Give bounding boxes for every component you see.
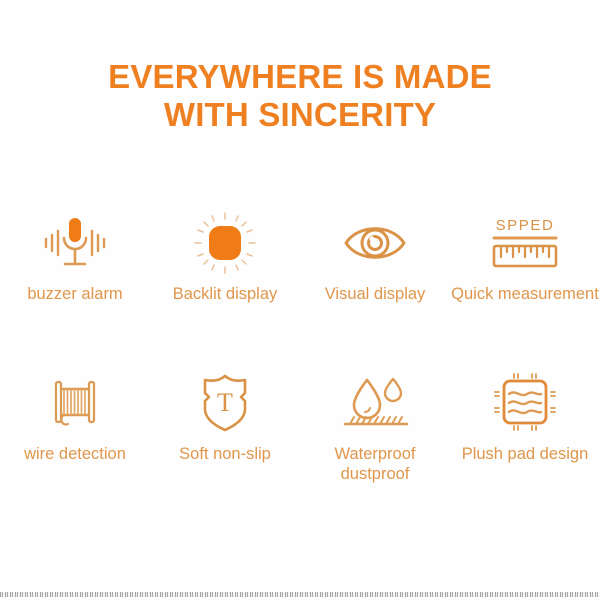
wire-spool-icon [44, 366, 106, 440]
feature-row-1: buzzer alarm [0, 206, 600, 304]
ruler-speed-icon: SPPED [486, 206, 564, 280]
feature-label: Backlit display [173, 284, 278, 304]
feature-cell-plush-pad-design: Plush pad design [450, 366, 600, 484]
feature-label: Visual display [325, 284, 426, 304]
feature-cell-waterproof-dustproof: Waterproof dustproof [300, 366, 450, 484]
feature-label: buzzer alarm [27, 284, 122, 304]
feature-label: Waterproof dustproof [334, 444, 415, 484]
feature-cell-soft-non-slip: T Soft non-slip [150, 366, 300, 484]
waterdrop-surface-icon [337, 366, 413, 440]
feature-cell-visual-display: Visual display [300, 206, 450, 304]
infographic-page: EVERYWHERE IS MADE WITH SINCERITY [0, 0, 600, 600]
shield-t-icon: T [196, 366, 254, 440]
feature-label: Plush pad design [439, 444, 600, 464]
feature-label: Soft non-slip [139, 444, 311, 464]
sun-brightness-icon [192, 206, 258, 280]
feature-cell-backlit-display: Backlit display [150, 206, 300, 304]
page-title: EVERYWHERE IS MADE WITH SINCERITY [0, 58, 600, 134]
bottom-edge-artifact [0, 592, 600, 597]
feature-cell-buzzer-alarm: buzzer alarm [0, 206, 150, 304]
plush-pad-icon [490, 366, 560, 440]
feature-label: wire detection [0, 444, 161, 464]
page-title-line-2: WITH SINCERITY [0, 96, 600, 134]
feature-cell-wire-detection: wire detection [0, 366, 150, 484]
feature-cell-quick-measurement: SPPED Quick measu [450, 206, 600, 304]
feature-label: Quick measurement [439, 284, 600, 304]
microphone-soundwave-icon [38, 206, 112, 280]
page-title-line-1: EVERYWHERE IS MADE [0, 58, 600, 96]
ruler-speed-text: SPPED [496, 217, 555, 234]
shield-letter: T [217, 388, 233, 417]
feature-row-2: wire detection T Soft non-slip [0, 366, 600, 484]
eye-icon [339, 206, 411, 280]
